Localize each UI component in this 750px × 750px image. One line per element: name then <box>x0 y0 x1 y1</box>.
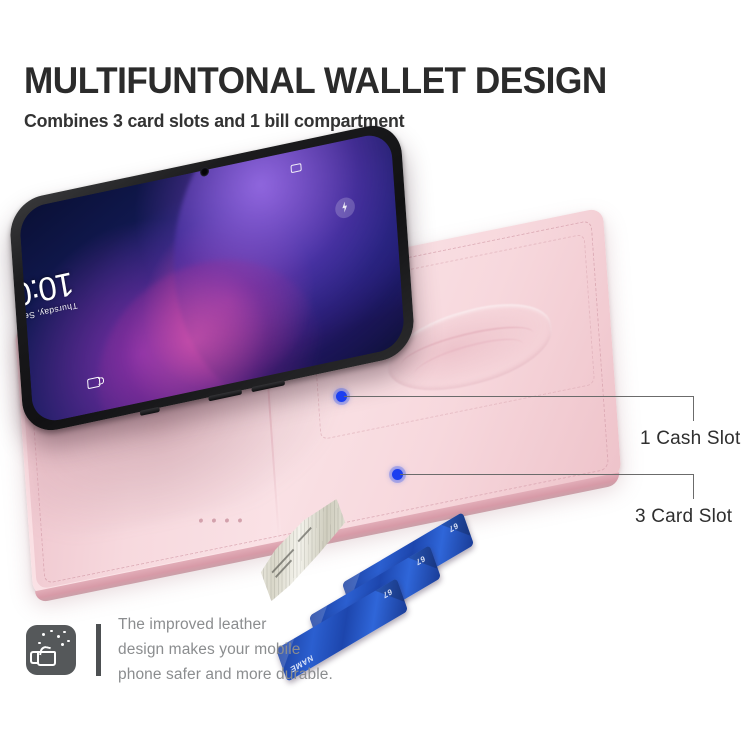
feature-callout: The improved leather design makes your m… <box>26 612 333 687</box>
thumbs-up-icon <box>26 625 76 675</box>
product-photo: 67 NAME 67 NAME 67 NAME Thursday, Septem… <box>0 150 750 590</box>
header-block: MULTIFUNTONAL WALLET DESIGN Combines 3 c… <box>24 62 724 132</box>
page-title: MULTIFUNTONAL WALLET DESIGN <box>24 62 689 99</box>
feature-line-2: design makes your mobile <box>118 637 333 662</box>
thumb-glyph <box>37 651 56 666</box>
feature-line-1: The improved leather <box>118 612 333 637</box>
feature-line-3: phone safer and more durable. <box>118 662 333 687</box>
lockscreen-info: Thursday, September 12 10:08 <box>19 267 79 332</box>
feature-divider <box>96 624 101 676</box>
wallet-case-illustration: 67 NAME 67 NAME 67 NAME Thursday, Septem… <box>0 150 750 590</box>
feature-text: The improved leather design makes your m… <box>118 612 333 687</box>
